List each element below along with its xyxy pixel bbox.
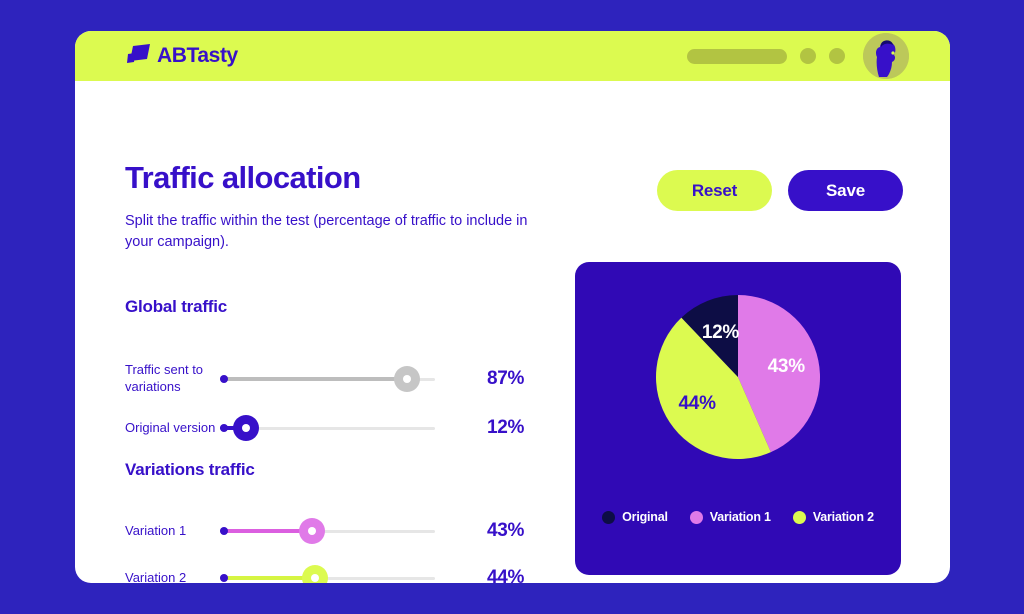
slider-traffic-sent-to-variations[interactable] xyxy=(220,364,435,394)
abtasty-flag-logo-icon xyxy=(126,43,152,70)
slider-variation-2[interactable] xyxy=(220,563,435,583)
slider-value-variation-2: 44% xyxy=(487,567,524,583)
slider-origin-dot xyxy=(220,375,228,383)
slider-original-version[interactable] xyxy=(220,413,435,443)
slider-knob-original-version[interactable] xyxy=(233,415,259,441)
app-window: ABTasty Traffic allocation Split the tra… xyxy=(75,31,950,583)
pie-label-original: 12% xyxy=(702,322,739,344)
slider-label-variation-2: Variation 2 xyxy=(125,570,220,583)
slider-value-variation-1: 43% xyxy=(487,520,524,542)
legend-item-variation-2[interactable]: Variation 2 xyxy=(793,510,874,524)
legend-item-variation-1[interactable]: Variation 1 xyxy=(690,510,771,524)
top-bar-right-group xyxy=(687,31,909,81)
slider-value-original-version: 12% xyxy=(487,417,524,439)
top-bar: ABTasty xyxy=(75,31,950,81)
slider-row-variation-1: Variation 1 43% xyxy=(125,511,625,551)
slider-label-traffic-sent-to-variations: Traffic sent to variations xyxy=(125,362,220,396)
slider-track-fill xyxy=(220,377,407,381)
slider-knob-variation-2[interactable] xyxy=(302,565,328,583)
section-heading-global-traffic: Global traffic xyxy=(125,297,227,317)
slider-origin-dot xyxy=(220,527,228,535)
slider-label-original-version: Original version xyxy=(125,420,220,437)
slider-row-traffic-sent-to-variations: Traffic sent to variations 87% xyxy=(125,359,625,399)
brand-logo[interactable]: ABTasty xyxy=(126,43,238,70)
slider-knob-traffic-sent-to-variations[interactable] xyxy=(394,366,420,392)
pie-chart: 43%44%12% xyxy=(656,295,820,464)
slider-origin-dot xyxy=(220,574,228,582)
slider-row-original-version: Original version 12% xyxy=(125,408,625,448)
search-bar-placeholder-icon[interactable] xyxy=(687,49,787,64)
slider-row-variation-2: Variation 2 44% xyxy=(125,558,625,583)
legend-label: Variation 2 xyxy=(813,510,874,524)
pie-label-variation-2: 44% xyxy=(679,393,716,415)
slider-value-traffic-sent-to-variations: 87% xyxy=(487,368,524,390)
legend-item-original[interactable]: Original xyxy=(602,510,668,524)
nav-dot-icon[interactable] xyxy=(800,48,816,64)
page-title: Traffic allocation xyxy=(125,162,361,193)
user-avatar-icon[interactable] xyxy=(863,33,909,79)
slider-track-fill xyxy=(220,576,315,580)
traffic-distribution-chart-panel: 43%44%12% OriginalVariation 1Variation 2 xyxy=(575,262,901,575)
slider-origin-dot xyxy=(220,424,228,432)
nav-dot-icon[interactable] xyxy=(829,48,845,64)
legend-label: Original xyxy=(622,510,668,524)
chart-legend: OriginalVariation 1Variation 2 xyxy=(575,510,901,524)
reset-button[interactable]: Reset xyxy=(657,170,772,211)
save-button[interactable]: Save xyxy=(788,170,903,211)
section-heading-variations-traffic: Variations traffic xyxy=(125,460,255,480)
slider-label-variation-1: Variation 1 xyxy=(125,523,220,540)
legend-swatch-icon xyxy=(690,511,703,524)
legend-swatch-icon xyxy=(793,511,806,524)
slider-variation-1[interactable] xyxy=(220,516,435,546)
legend-label: Variation 1 xyxy=(710,510,771,524)
page-subtitle: Split the traffic within the test (perce… xyxy=(125,211,545,253)
content-area: Traffic allocation Split the traffic wit… xyxy=(75,81,950,583)
slider-knob-variation-1[interactable] xyxy=(299,518,325,544)
brand-name: ABTasty xyxy=(157,44,238,68)
legend-swatch-icon xyxy=(602,511,615,524)
pie-label-variation-1: 43% xyxy=(768,356,805,378)
action-buttons: Reset Save xyxy=(657,170,903,211)
